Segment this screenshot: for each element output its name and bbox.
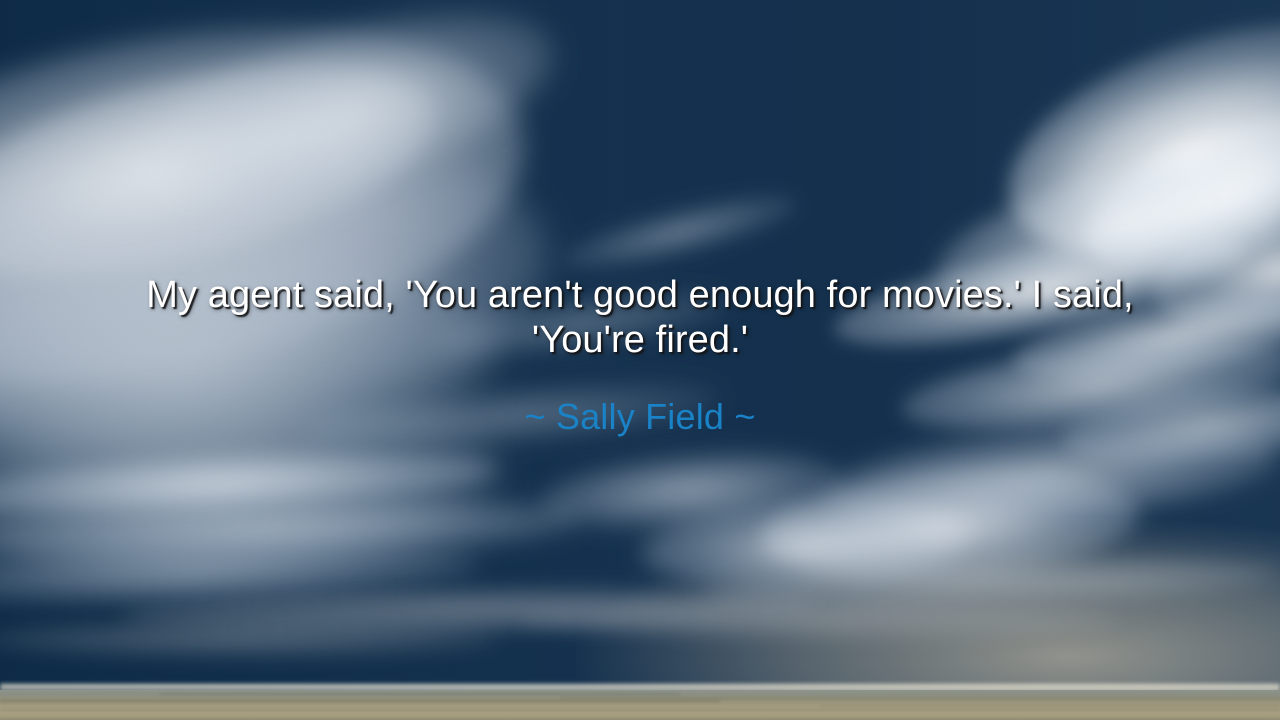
quote-text: My agent said, 'You aren't good enough f… [110,273,1170,363]
quote-content: My agent said, 'You aren't good enough f… [0,0,1280,720]
quote-attribution: ~ Sally Field ~ [524,396,755,438]
quote-card: My agent said, 'You aren't good enough f… [0,0,1280,720]
